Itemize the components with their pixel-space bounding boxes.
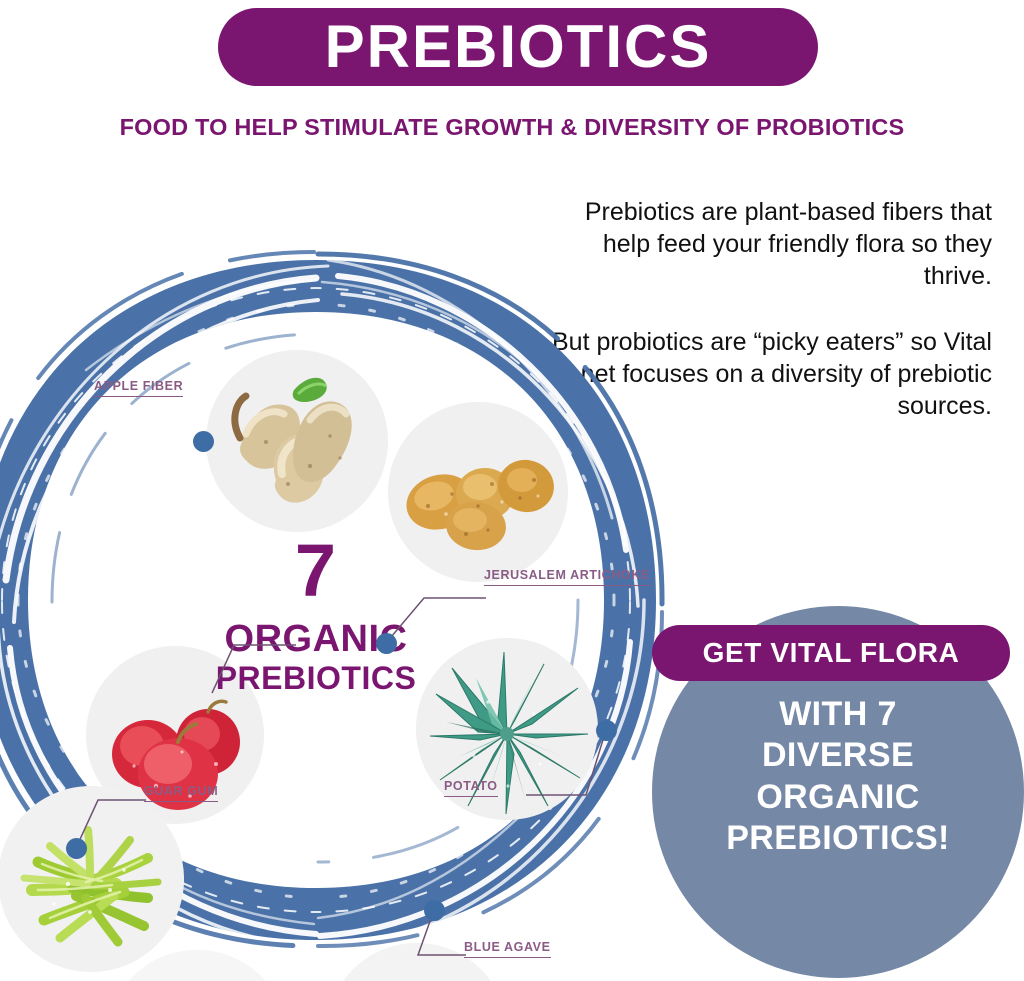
cta-pill-label: GET VITAL FLORA	[703, 637, 960, 669]
cta-line-2: DIVERSE	[652, 735, 1024, 776]
dot-guar-gum	[66, 838, 87, 859]
infographic-canvas: PREBIOTICS FOOD TO HELP STIMULATE GROWTH…	[0, 0, 1024, 981]
dot-jerusalem-artichoke	[376, 633, 397, 654]
food-label-blue-agave: BLUE AGAVE	[464, 940, 551, 958]
cta-line-4: PREBIOTICS!	[652, 818, 1024, 859]
cta-pill[interactable]: GET VITAL FLORA	[652, 625, 1010, 681]
cta-line-1: WITH 7	[652, 694, 1024, 735]
food-label-potato: POTATO	[444, 779, 498, 797]
food-label-jerusalem-artichoke: JERUSALEM ARTICHOKE	[484, 568, 650, 586]
title-pill: PREBIOTICS	[218, 8, 818, 86]
food-label-apple-fiber: APPLE FIBER	[94, 379, 183, 397]
prebiotics-wheel: APPLE FIBER	[0, 250, 666, 950]
dot-potato	[596, 720, 617, 741]
subtitle: FOOD TO HELP STIMULATE GROWTH & DIVERSIT…	[0, 114, 1024, 141]
dot-blue-agave	[424, 900, 445, 921]
page-title: PREBIOTICS	[325, 17, 712, 77]
cta-line-3: ORGANIC	[652, 777, 1024, 818]
leader-lines	[0, 250, 666, 950]
dot-apple-fiber	[193, 431, 214, 452]
food-label-guar-gum: GUAR GUM	[144, 784, 218, 802]
cta-message: WITH 7 DIVERSE ORGANIC PREBIOTICS!	[652, 694, 1024, 860]
